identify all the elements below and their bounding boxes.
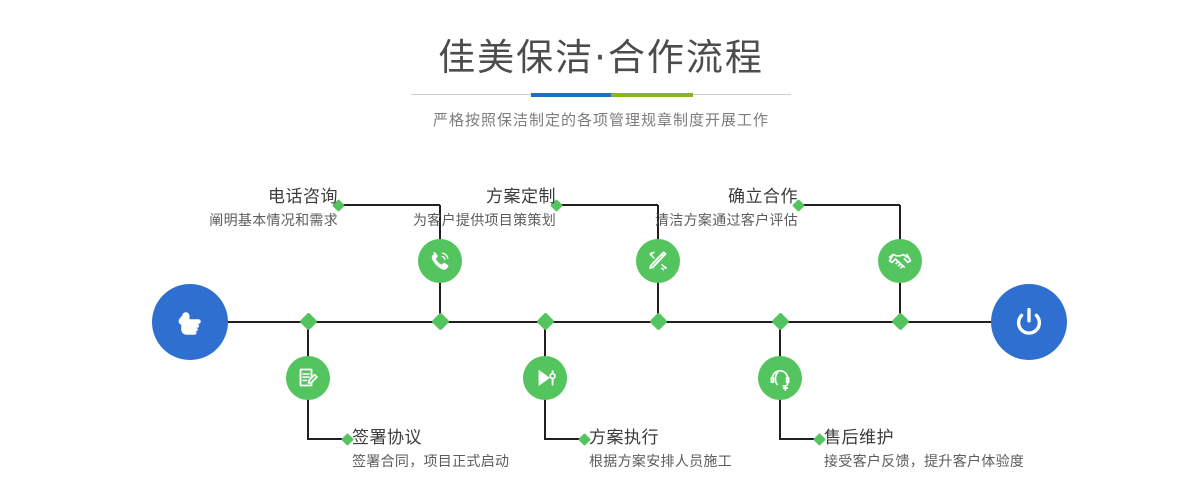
step-title-2: 签署协议 — [352, 427, 602, 449]
process-flow-infographic: 佳美保洁·合作流程 严格按照保洁制定的各项管理规章制度开展工作 — [0, 0, 1202, 502]
title-divider — [411, 93, 791, 97]
page-subtitle: 严格按照保洁制定的各项管理规章制度开展工作 — [0, 109, 1202, 130]
handshake-icon — [887, 248, 913, 274]
power-icon — [1008, 301, 1050, 343]
step-label-6: 售后维护 接受客户反馈，提升客户体验度 — [824, 427, 1124, 473]
header: 佳美保洁·合作流程 严格按照保洁制定的各项管理规章制度开展工作 — [0, 0, 1202, 130]
pointing-hand-icon — [169, 301, 211, 343]
step-title-5: 确立合作 — [588, 186, 798, 208]
step-icon-3 — [636, 239, 680, 283]
step-desc-2: 签署合同，项目正式启动 — [352, 451, 602, 473]
step-desc-1: 阐明基本情况和需求 — [128, 210, 338, 232]
step-icon-1 — [418, 239, 462, 283]
step-label-5: 确立合作 清洁方案通过客户评估 — [588, 186, 798, 232]
pencil-design-icon — [645, 248, 671, 274]
step-label-4: 方案执行 根据方案安排人员施工 — [589, 427, 839, 473]
step-label-2: 签署协议 签署合同，项目正式启动 — [352, 427, 602, 473]
document-sign-icon — [295, 365, 321, 391]
step-title-6: 售后维护 — [824, 427, 1124, 449]
timeline-marker-2 — [431, 312, 449, 330]
timeline-marker-4 — [649, 312, 667, 330]
page-title: 佳美保洁·合作流程 — [0, 36, 1202, 80]
step-icon-5 — [878, 239, 922, 283]
step-desc-6: 接受客户反馈，提升客户体验度 — [824, 451, 1124, 473]
divider-green-segment — [611, 93, 693, 97]
step-title-1: 电话咨询 — [128, 186, 338, 208]
step-icon-4 — [523, 356, 567, 400]
step-desc-3: 为客户提供项目策策划 — [346, 210, 556, 232]
step-desc-5: 清洁方案通过客户评估 — [588, 210, 798, 232]
step-title-4: 方案执行 — [589, 427, 839, 449]
timeline-marker-5 — [771, 312, 789, 330]
customer-service-add-icon — [767, 365, 793, 391]
phone-call-icon — [427, 248, 453, 274]
timeline-start-node — [152, 284, 228, 360]
step-label-3: 方案定制 为客户提供项目策策划 — [346, 186, 556, 232]
timeline-end-node — [991, 284, 1067, 360]
timeline-marker-6 — [891, 312, 909, 330]
play-execute-icon — [532, 365, 558, 391]
divider-blue-segment — [531, 93, 611, 97]
timeline-marker-1 — [299, 312, 317, 330]
step-icon-6 — [758, 356, 802, 400]
step-desc-4: 根据方案安排人员施工 — [589, 451, 839, 473]
step-icon-2 — [286, 356, 330, 400]
step-label-1: 电话咨询 阐明基本情况和需求 — [128, 186, 338, 232]
timeline-marker-3 — [536, 312, 554, 330]
connector-leader-5 — [798, 204, 900, 206]
step-title-3: 方案定制 — [346, 186, 556, 208]
